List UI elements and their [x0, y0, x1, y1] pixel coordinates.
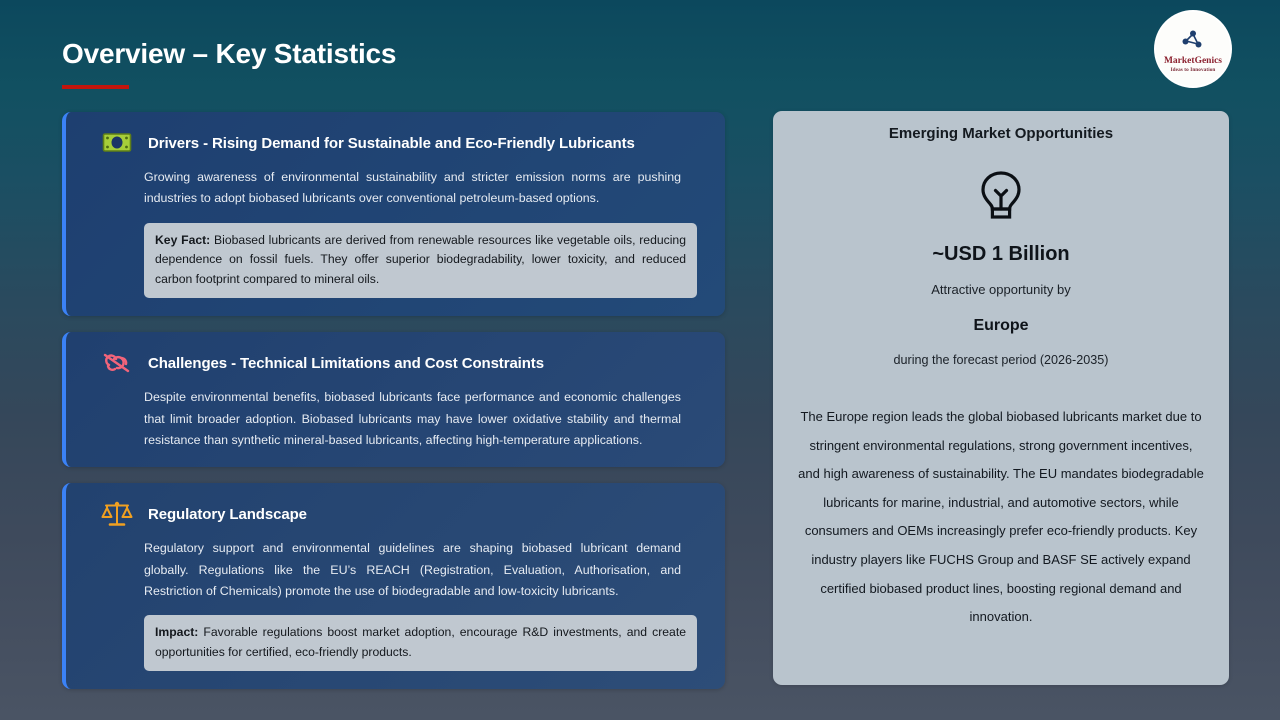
- lightbulb-icon: [793, 170, 1209, 229]
- molecule-network-icon: [1180, 29, 1206, 56]
- emerging-opportunities-panel: Emerging Market Opportunities ~USD 1 Bil…: [773, 111, 1229, 685]
- key-fact-callout: Key Fact: Biobased lubricants are derive…: [144, 223, 697, 299]
- callout-text: Favorable regulations boost market adopt…: [155, 625, 686, 659]
- card-body-text: Regulatory support and environmental gui…: [90, 538, 703, 602]
- logo-tagline: Ideas to Innovation: [1171, 67, 1216, 73]
- card-title: Challenges - Technical Limitations and C…: [148, 355, 544, 372]
- opportunity-subtitle: Attractive opportunity by: [793, 282, 1209, 297]
- card-body-text: Despite environmental benefits, biobased…: [90, 387, 703, 451]
- scales-of-justice-icon: [100, 499, 134, 529]
- card-drivers[interactable]: Drivers - Rising Demand for Sustainable …: [62, 112, 725, 316]
- market-value: ~USD 1 Billion: [793, 243, 1209, 266]
- panel-title: Emerging Market Opportunities: [793, 125, 1209, 142]
- card-header: Regulatory Landscape: [90, 499, 703, 529]
- impact-callout: Impact: Favorable regulations boost mark…: [144, 615, 697, 671]
- title-underline-rule: [62, 85, 129, 89]
- broken-link-icon: [100, 348, 134, 378]
- brand-logo: MarketGenics Ideas to Innovation: [1154, 10, 1232, 88]
- region-name: Europe: [793, 317, 1209, 335]
- card-header: Challenges - Technical Limitations and C…: [90, 348, 703, 378]
- page-title: Overview – Key Statistics: [62, 38, 396, 70]
- callout-label: Key Fact:: [155, 233, 210, 247]
- card-title: Regulatory Landscape: [148, 506, 307, 523]
- banknote-icon: [100, 128, 134, 158]
- callout-label: Impact:: [155, 625, 198, 639]
- forecast-period: during the forecast period (2026-2035): [793, 353, 1209, 367]
- card-regulatory[interactable]: Regulatory Landscape Regulatory support …: [62, 483, 725, 689]
- logo-name: MarketGenics: [1164, 57, 1222, 67]
- card-header: Drivers - Rising Demand for Sustainable …: [90, 128, 703, 158]
- panel-description: The Europe region leads the global bioba…: [793, 403, 1209, 632]
- left-column: Drivers - Rising Demand for Sustainable …: [62, 112, 725, 705]
- card-body-text: Growing awareness of environmental susta…: [90, 167, 703, 210]
- card-challenges[interactable]: Challenges - Technical Limitations and C…: [62, 332, 725, 467]
- callout-text: Biobased lubricants are derived from ren…: [155, 233, 686, 286]
- card-title: Drivers - Rising Demand for Sustainable …: [148, 135, 635, 152]
